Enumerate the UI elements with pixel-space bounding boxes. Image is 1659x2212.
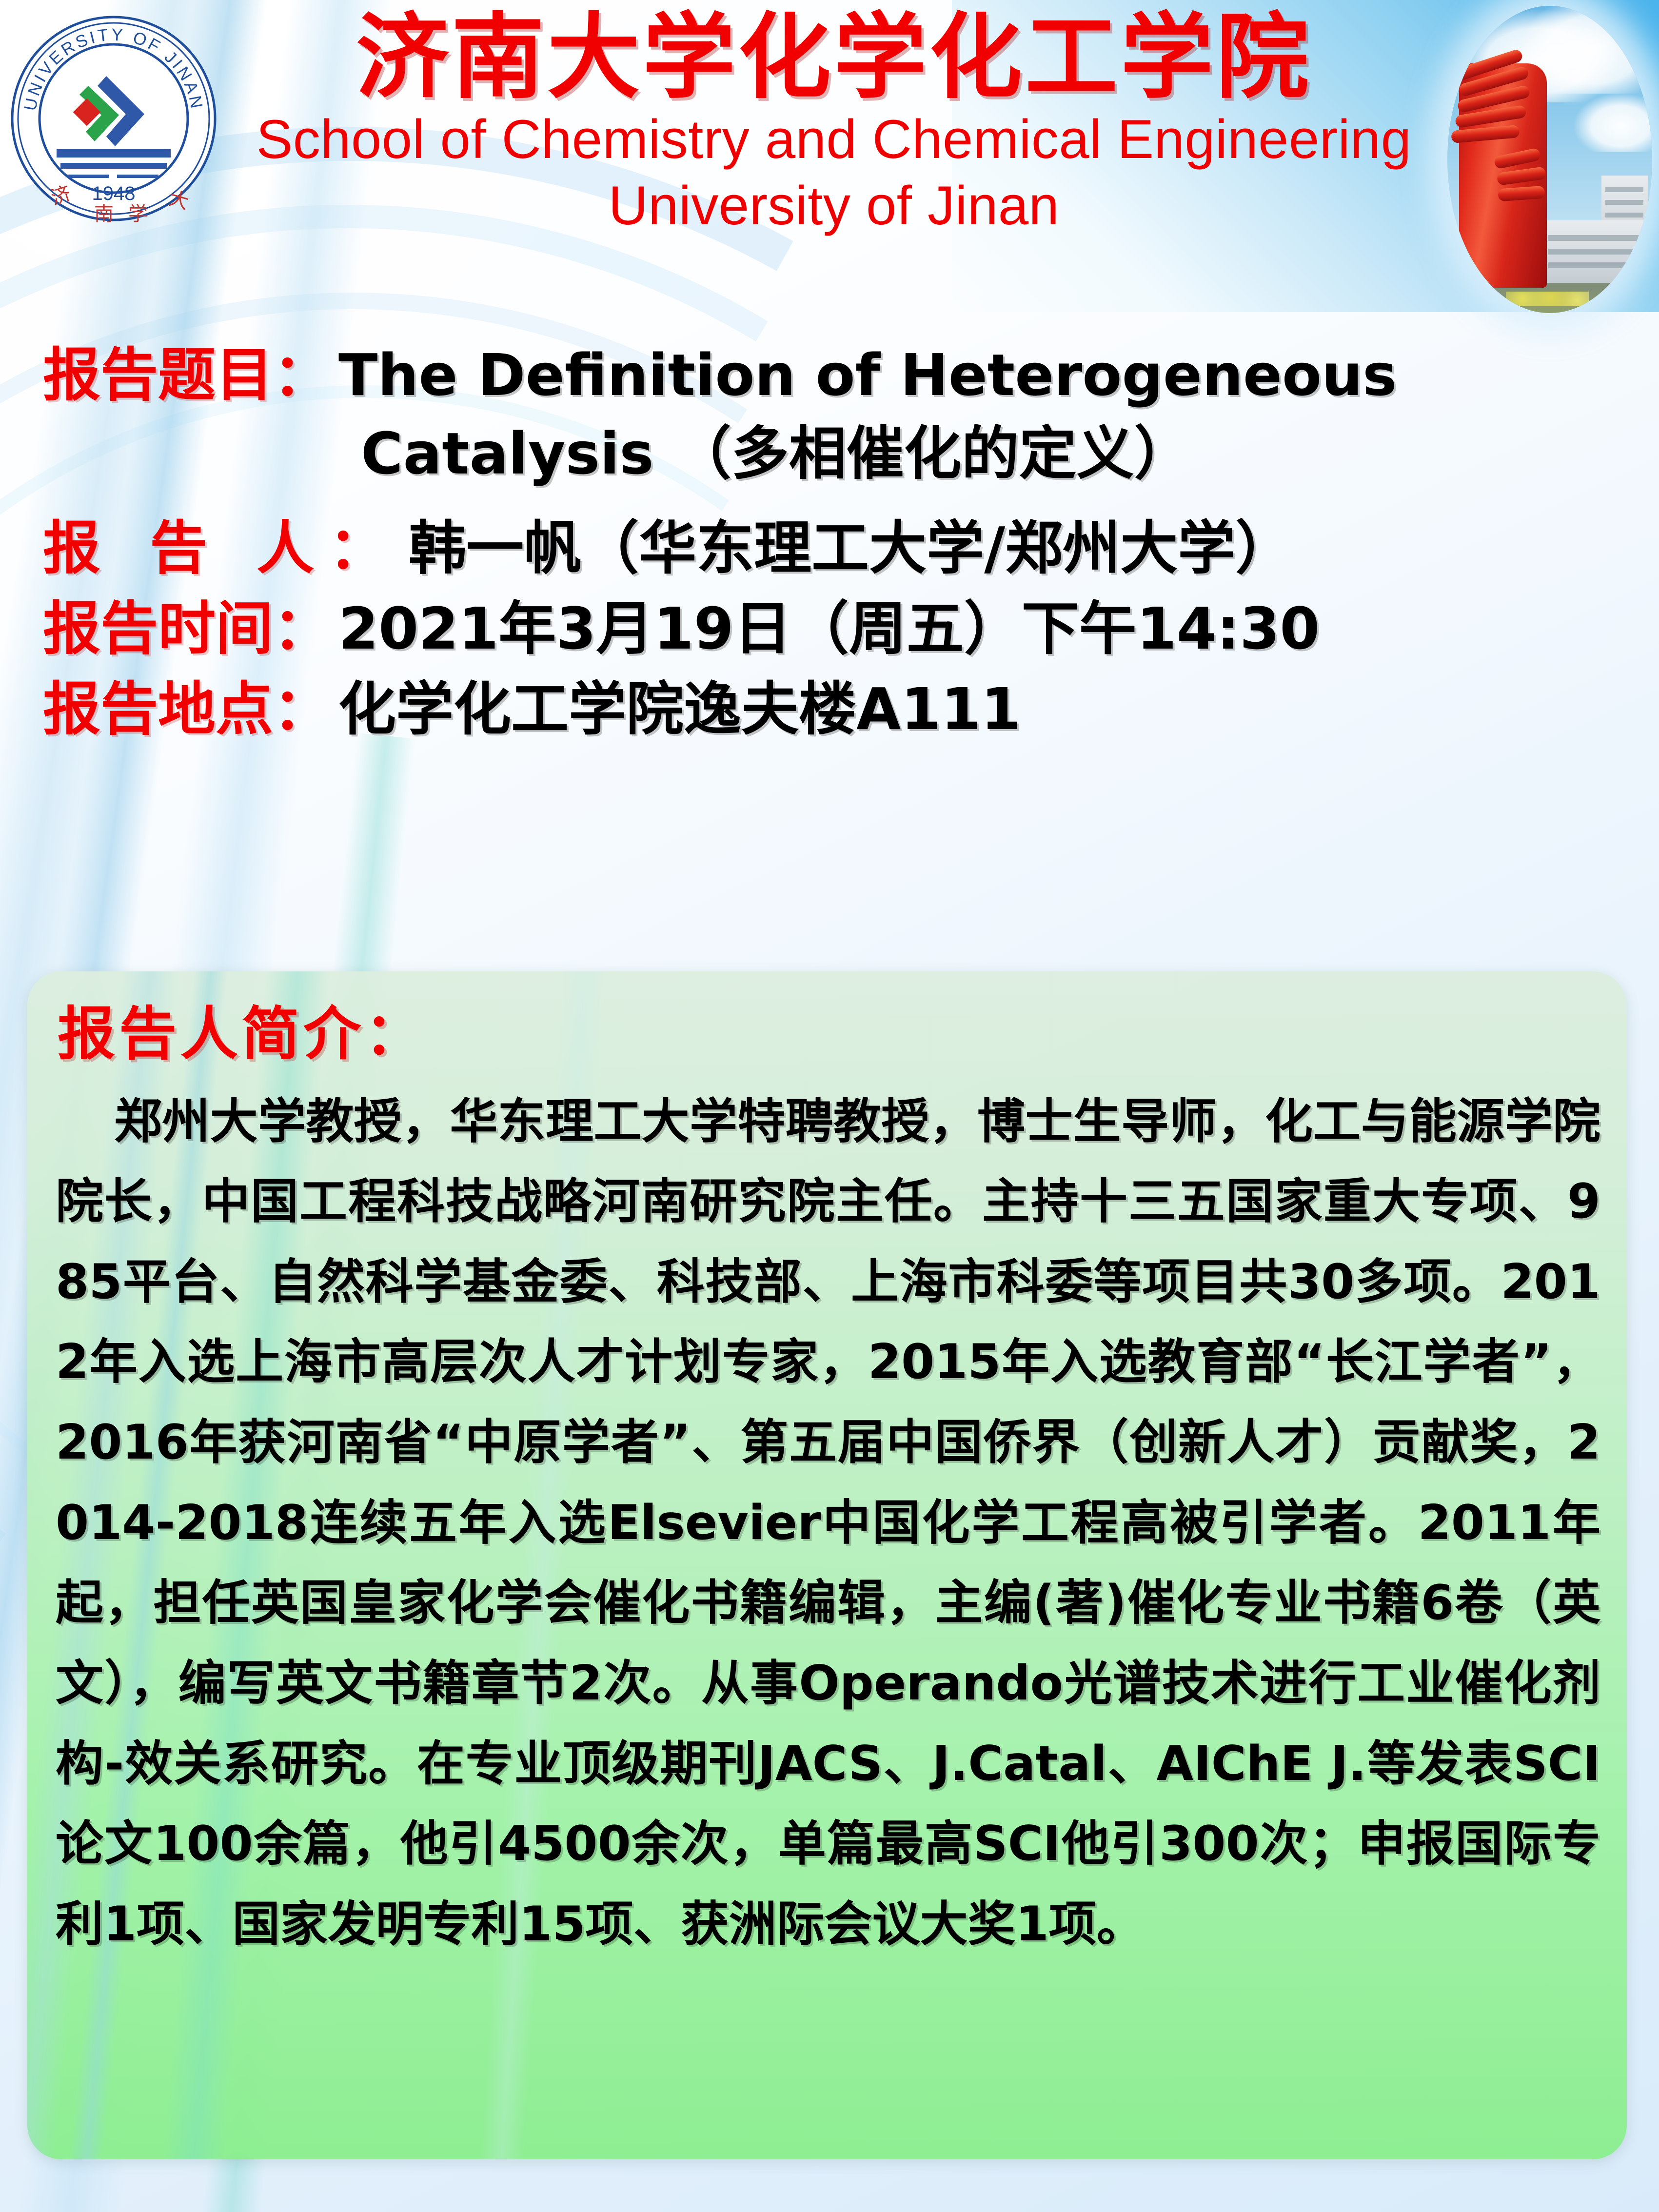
time-value: 2021年3月19日（周五）下午14:30 (331, 590, 1320, 668)
place-value: 化学化工学院逸夫楼A111 (331, 671, 1021, 748)
school-name-en-line1: School of Chemistry and Chemical Enginee… (229, 106, 1439, 173)
svg-text:南: 南 (94, 203, 114, 223)
info-row-time: 报告时间： 2021年3月19日（周五）下午14:30 (0, 590, 1659, 668)
poster-header: UNIVERSITY OF JINAN 1948 济 大 南 学 济南大学化学化… (0, 0, 1659, 322)
place-label: 报告地点： (0, 671, 331, 748)
info-row-speaker: 报 告 人： 韩一帆（华东理工大学/郑州大学） (0, 510, 1659, 587)
svg-text:学: 学 (128, 203, 148, 223)
seal-icon: UNIVERSITY OF JINAN 1948 济 大 南 学 (9, 14, 218, 223)
bio-paragraph: 郑州大学教授，华东理工大学特聘教授，博士生导师，化工与能源学院院长，中国工程科技… (27, 1069, 1627, 1965)
campus-sculpture-photo (1447, 6, 1652, 313)
cloud-shape-3 (1574, 94, 1652, 152)
title-value-line2: Catalysis （多相催化的定义） (0, 415, 1659, 493)
title-label: 报告题目： (0, 336, 331, 414)
info-row-title: 报告题目： The Definition of Heterogeneous (0, 336, 1659, 414)
school-name-en-line2: University of Jinan (229, 173, 1439, 239)
school-name-cn: 济南大学化学化工学院 (229, 9, 1439, 106)
photo-building-wide (1543, 220, 1648, 283)
bio-heading: 报告人简介： (27, 971, 1627, 1069)
university-seal-logo: UNIVERSITY OF JINAN 1948 济 大 南 学 (9, 14, 218, 223)
school-title-block: 济南大学化学化工学院 School of Chemistry and Chemi… (229, 9, 1439, 239)
speaker-value: 韩一帆（华东理工大学/郑州大学） (401, 510, 1293, 587)
speaker-bio-panel: 报告人简介： 郑州大学教授，华东理工大学特聘教授，博士生导师，化工与能源学院院长… (27, 971, 1627, 2159)
info-row-place: 报告地点： 化学化工学院逸夫楼A111 (0, 671, 1659, 748)
speaker-label: 报 告 人： (0, 510, 401, 587)
svg-text:1948: 1948 (92, 183, 136, 204)
photo-flowerbed (1506, 292, 1589, 306)
seminar-info-block: 报告题目： The Definition of Heterogeneous Ca… (0, 336, 1659, 751)
time-label: 报告时间： (0, 590, 331, 668)
title-value-line1: The Definition of Heterogeneous (331, 336, 1397, 414)
seminar-poster: UNIVERSITY OF JINAN 1948 济 大 南 学 济南大学化学化… (0, 0, 1659, 2212)
